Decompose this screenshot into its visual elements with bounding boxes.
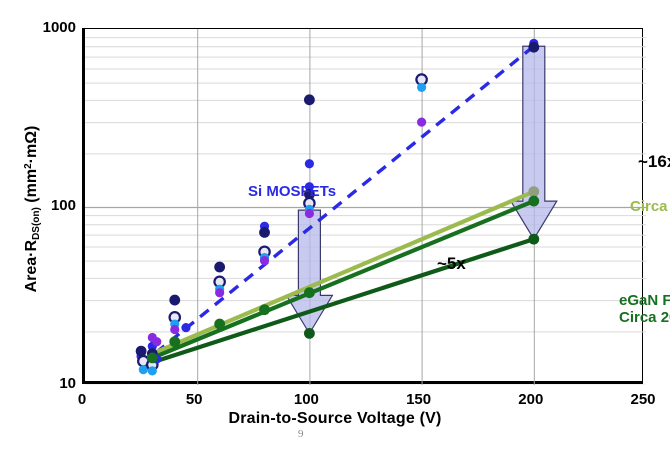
annotation-egan-line1: eGaN FETs [619, 292, 670, 309]
data-point-egan-fets-circa-2021-latest-markers [304, 328, 315, 339]
x-tick-250: 250 [613, 392, 670, 407]
y-title-sep: · [23, 251, 40, 256]
data-point-egan-fets-circa-2021-latest-markers [528, 234, 539, 245]
x-tick-200: 200 [501, 392, 561, 407]
y-title-subscript: DS(on) [31, 207, 42, 240]
data-point-si-mosfet [417, 117, 426, 126]
data-point-si-mosfet [136, 346, 147, 357]
data-point-si-mosfet [305, 159, 314, 168]
data-point-si-mosfet [304, 94, 315, 105]
data-point-si-mosfet [214, 262, 225, 273]
y-tick-1000: 1000 [16, 20, 76, 35]
y-title-units-mid: ·mΩ) [23, 126, 40, 164]
trendline-egan-fets-circa-2021 [152, 201, 533, 358]
y-axis-title: Area·RDS(on) (mm2·mΩ) [23, 79, 41, 339]
page-number: 9 [298, 428, 304, 440]
plot-area: Si MOSFETs ~16x ~5x Circa 2011 eGaN FETs… [82, 28, 643, 384]
data-point-si-mosfet [215, 288, 224, 297]
chart-figure: Si MOSFETs ~16x ~5x Circa 2011 eGaN FETs… [0, 0, 670, 468]
annotation-ratio-16x: ~16x [638, 152, 670, 171]
data-point-si-mosfet [417, 83, 426, 92]
data-point-egan-fets-circa-2021-markers [147, 352, 158, 363]
annotation-circa-2011: Circa 2011 [630, 199, 670, 216]
data-point-si-mosfet [260, 256, 269, 265]
y-title-units-open: (mm [23, 169, 40, 207]
y-title-r: R [23, 240, 40, 252]
x-tick-50: 50 [164, 392, 224, 407]
x-axis-title: Drain-to-Source Voltage (V) [0, 410, 670, 428]
y-title-prefix: Area [23, 257, 40, 293]
data-point-egan-fets-circa-2021-markers [214, 319, 225, 330]
annotation-si-mosfets: Si MOSFETs [248, 184, 336, 201]
y-tick-10: 10 [16, 376, 76, 391]
data-point-si-mosfet [152, 337, 161, 346]
trendline-egan-fets-circa-2011 [152, 192, 533, 354]
x-tick-100: 100 [276, 392, 336, 407]
data-point-egan-fets-circa-2011-markers [528, 186, 539, 197]
chart-data-layer [85, 29, 646, 385]
data-point-egan-fets-circa-2021-markers [304, 287, 315, 298]
data-point-si-mosfet [169, 295, 180, 306]
y-title-units-sup: 2 [23, 163, 34, 169]
data-point-egan-fets-circa-2021-markers [528, 196, 539, 207]
annotation-ratio-5x: ~5x [437, 254, 466, 273]
data-point-si-mosfet [528, 42, 539, 53]
x-tick-150: 150 [389, 392, 449, 407]
data-point-si-mosfet [259, 227, 270, 238]
annotation-egan-fets: eGaN FETs Circa 2021 [619, 293, 670, 327]
trendline-si-mosfets-trend [141, 46, 534, 364]
data-point-si-mosfet [181, 323, 190, 332]
data-point-si-mosfet [148, 366, 157, 375]
data-point-si-mosfet [305, 209, 314, 218]
data-point-egan-fets-circa-2021-markers [169, 336, 180, 347]
x-tick-0: 0 [52, 392, 112, 407]
data-point-si-mosfet [170, 325, 179, 334]
ratio-arrow-16x [511, 46, 557, 239]
data-point-egan-fets-circa-2021-markers [259, 304, 270, 315]
annotation-egan-line2: Circa 2021 [619, 309, 670, 326]
trendline-egan-fets-circa-2021-latest [152, 239, 533, 362]
